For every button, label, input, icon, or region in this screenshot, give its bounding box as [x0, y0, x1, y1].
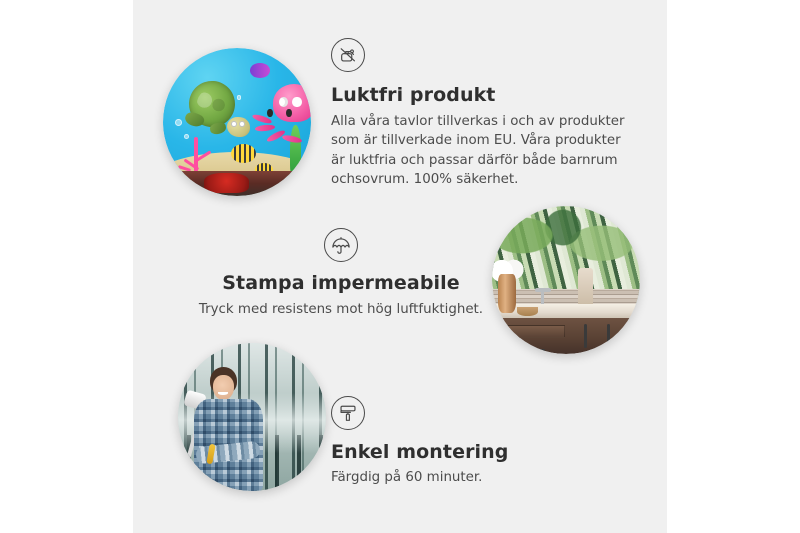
painter-forest-photo: [178, 343, 326, 491]
umbrella-icon: [324, 228, 358, 262]
feature-title: Stampa impermeabile: [196, 272, 486, 294]
feature-description: Färgdig på 60 minuter.: [331, 468, 611, 487]
feature-block-odorless: Luktfri produkt Alla våra tavlor tillver…: [331, 38, 631, 190]
feature-block-waterproof: Stampa impermeabile Tryck med resistens …: [196, 228, 486, 319]
feature-description: Alla våra tavlor tillverkas i och av pro…: [331, 112, 631, 190]
underwater-cartoon-photo: [163, 48, 311, 196]
paint-roller-icon: [331, 396, 365, 430]
feature-title: Luktfri produkt: [331, 84, 631, 106]
bathroom-wallpaper-photo: [492, 206, 640, 354]
feature-title: Enkel montering: [331, 441, 611, 463]
feature-block-easy-install: Enkel montering Färgdig på 60 minuter.: [331, 396, 611, 487]
infographic-page: Luktfri produkt Alla våra tavlor tillver…: [0, 0, 800, 533]
feature-description: Tryck med resistens mot hög luftfuktighe…: [196, 300, 486, 319]
no-scent-icon: [331, 38, 365, 72]
